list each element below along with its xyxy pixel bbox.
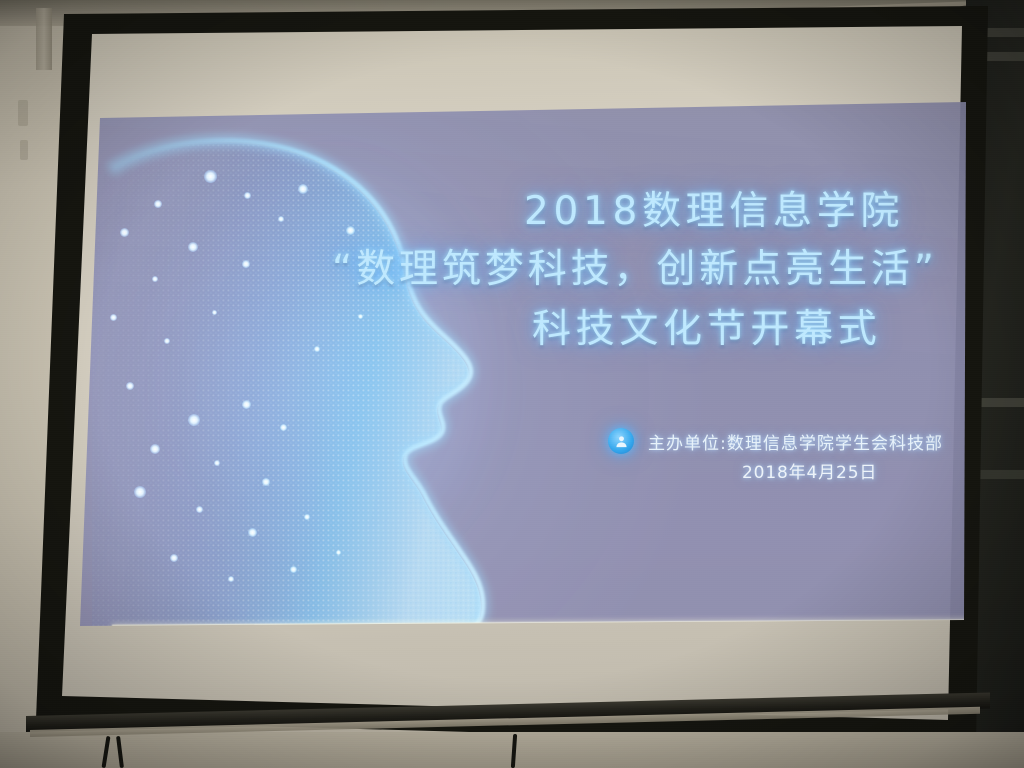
- event-date: 2018年4月25日: [742, 458, 877, 483]
- wall-mark: [20, 140, 28, 160]
- wall-metal-strip: [36, 8, 52, 70]
- slide-title-line-3: 科技文化节开幕式: [532, 298, 881, 354]
- person-icon: [608, 428, 634, 454]
- slide-title-line-2: “数理筑梦科技，创新点亮生活”: [332, 238, 938, 294]
- slide-title-line-1: 2018数理信息学院: [524, 180, 904, 236]
- organizer-row: 主办单位:数理信息学院学生会科技部: [608, 428, 943, 454]
- wall-mark: [18, 100, 28, 126]
- photo-scene: 2018数理信息学院 “数理筑梦科技，创新点亮生活” 科技文化节开幕式 主办单位…: [0, 0, 1024, 768]
- organizer-label: 主办单位:数理信息学院学生会科技部: [648, 429, 943, 454]
